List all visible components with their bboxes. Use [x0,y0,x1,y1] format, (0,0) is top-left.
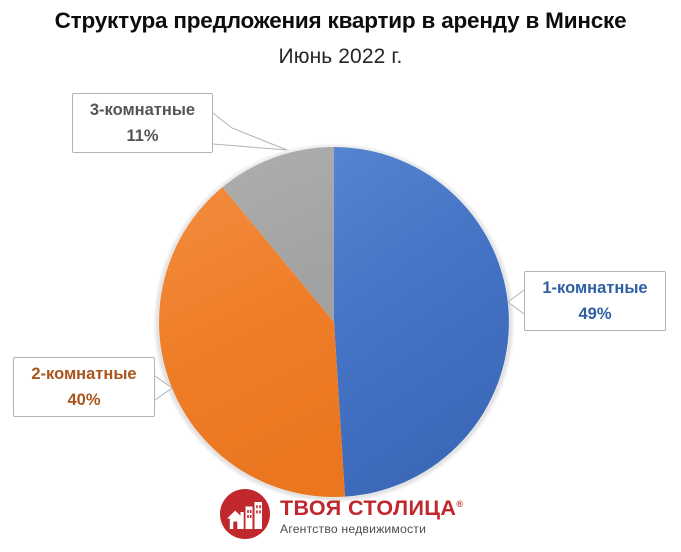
data-label-3-komnatnye[interactable]: 3-комнатные 11% [72,93,213,153]
data-label-2-komnatnye[interactable]: 2-комнатные 40% [13,357,155,417]
registered-mark: ® [456,499,463,509]
company-logo: ТВОЯ СТОЛИЦА® Агентство недвижимости [219,486,469,542]
data-label-2-komnatnye-percent: 40% [14,387,154,413]
data-label-3-komnatnye-percent: 11% [73,123,212,149]
data-label-2-komnatnye-name: 2-комнатные [14,361,154,387]
data-label-3-komnatnye-name: 3-комнатные [73,97,212,123]
logo-company-name-text: ТВОЯ СТОЛИЦА [280,497,456,521]
building-circle-icon [219,488,271,540]
pie-slice-1-komnatnye[interactable] [334,147,509,497]
logo-text-block: ТВОЯ СТОЛИЦА® Агентство недвижимости [280,491,463,536]
data-label-1-komnatnye-percent: 49% [525,301,665,327]
data-label-1-komnatnye-name: 1-комнатные [525,275,665,301]
logo-tagline: Агентство недвижимости [280,521,463,537]
logo-company-name: ТВОЯ СТОЛИЦА® [280,493,463,519]
data-label-1-komnatnye[interactable]: 1-комнатные 49% [524,271,666,331]
